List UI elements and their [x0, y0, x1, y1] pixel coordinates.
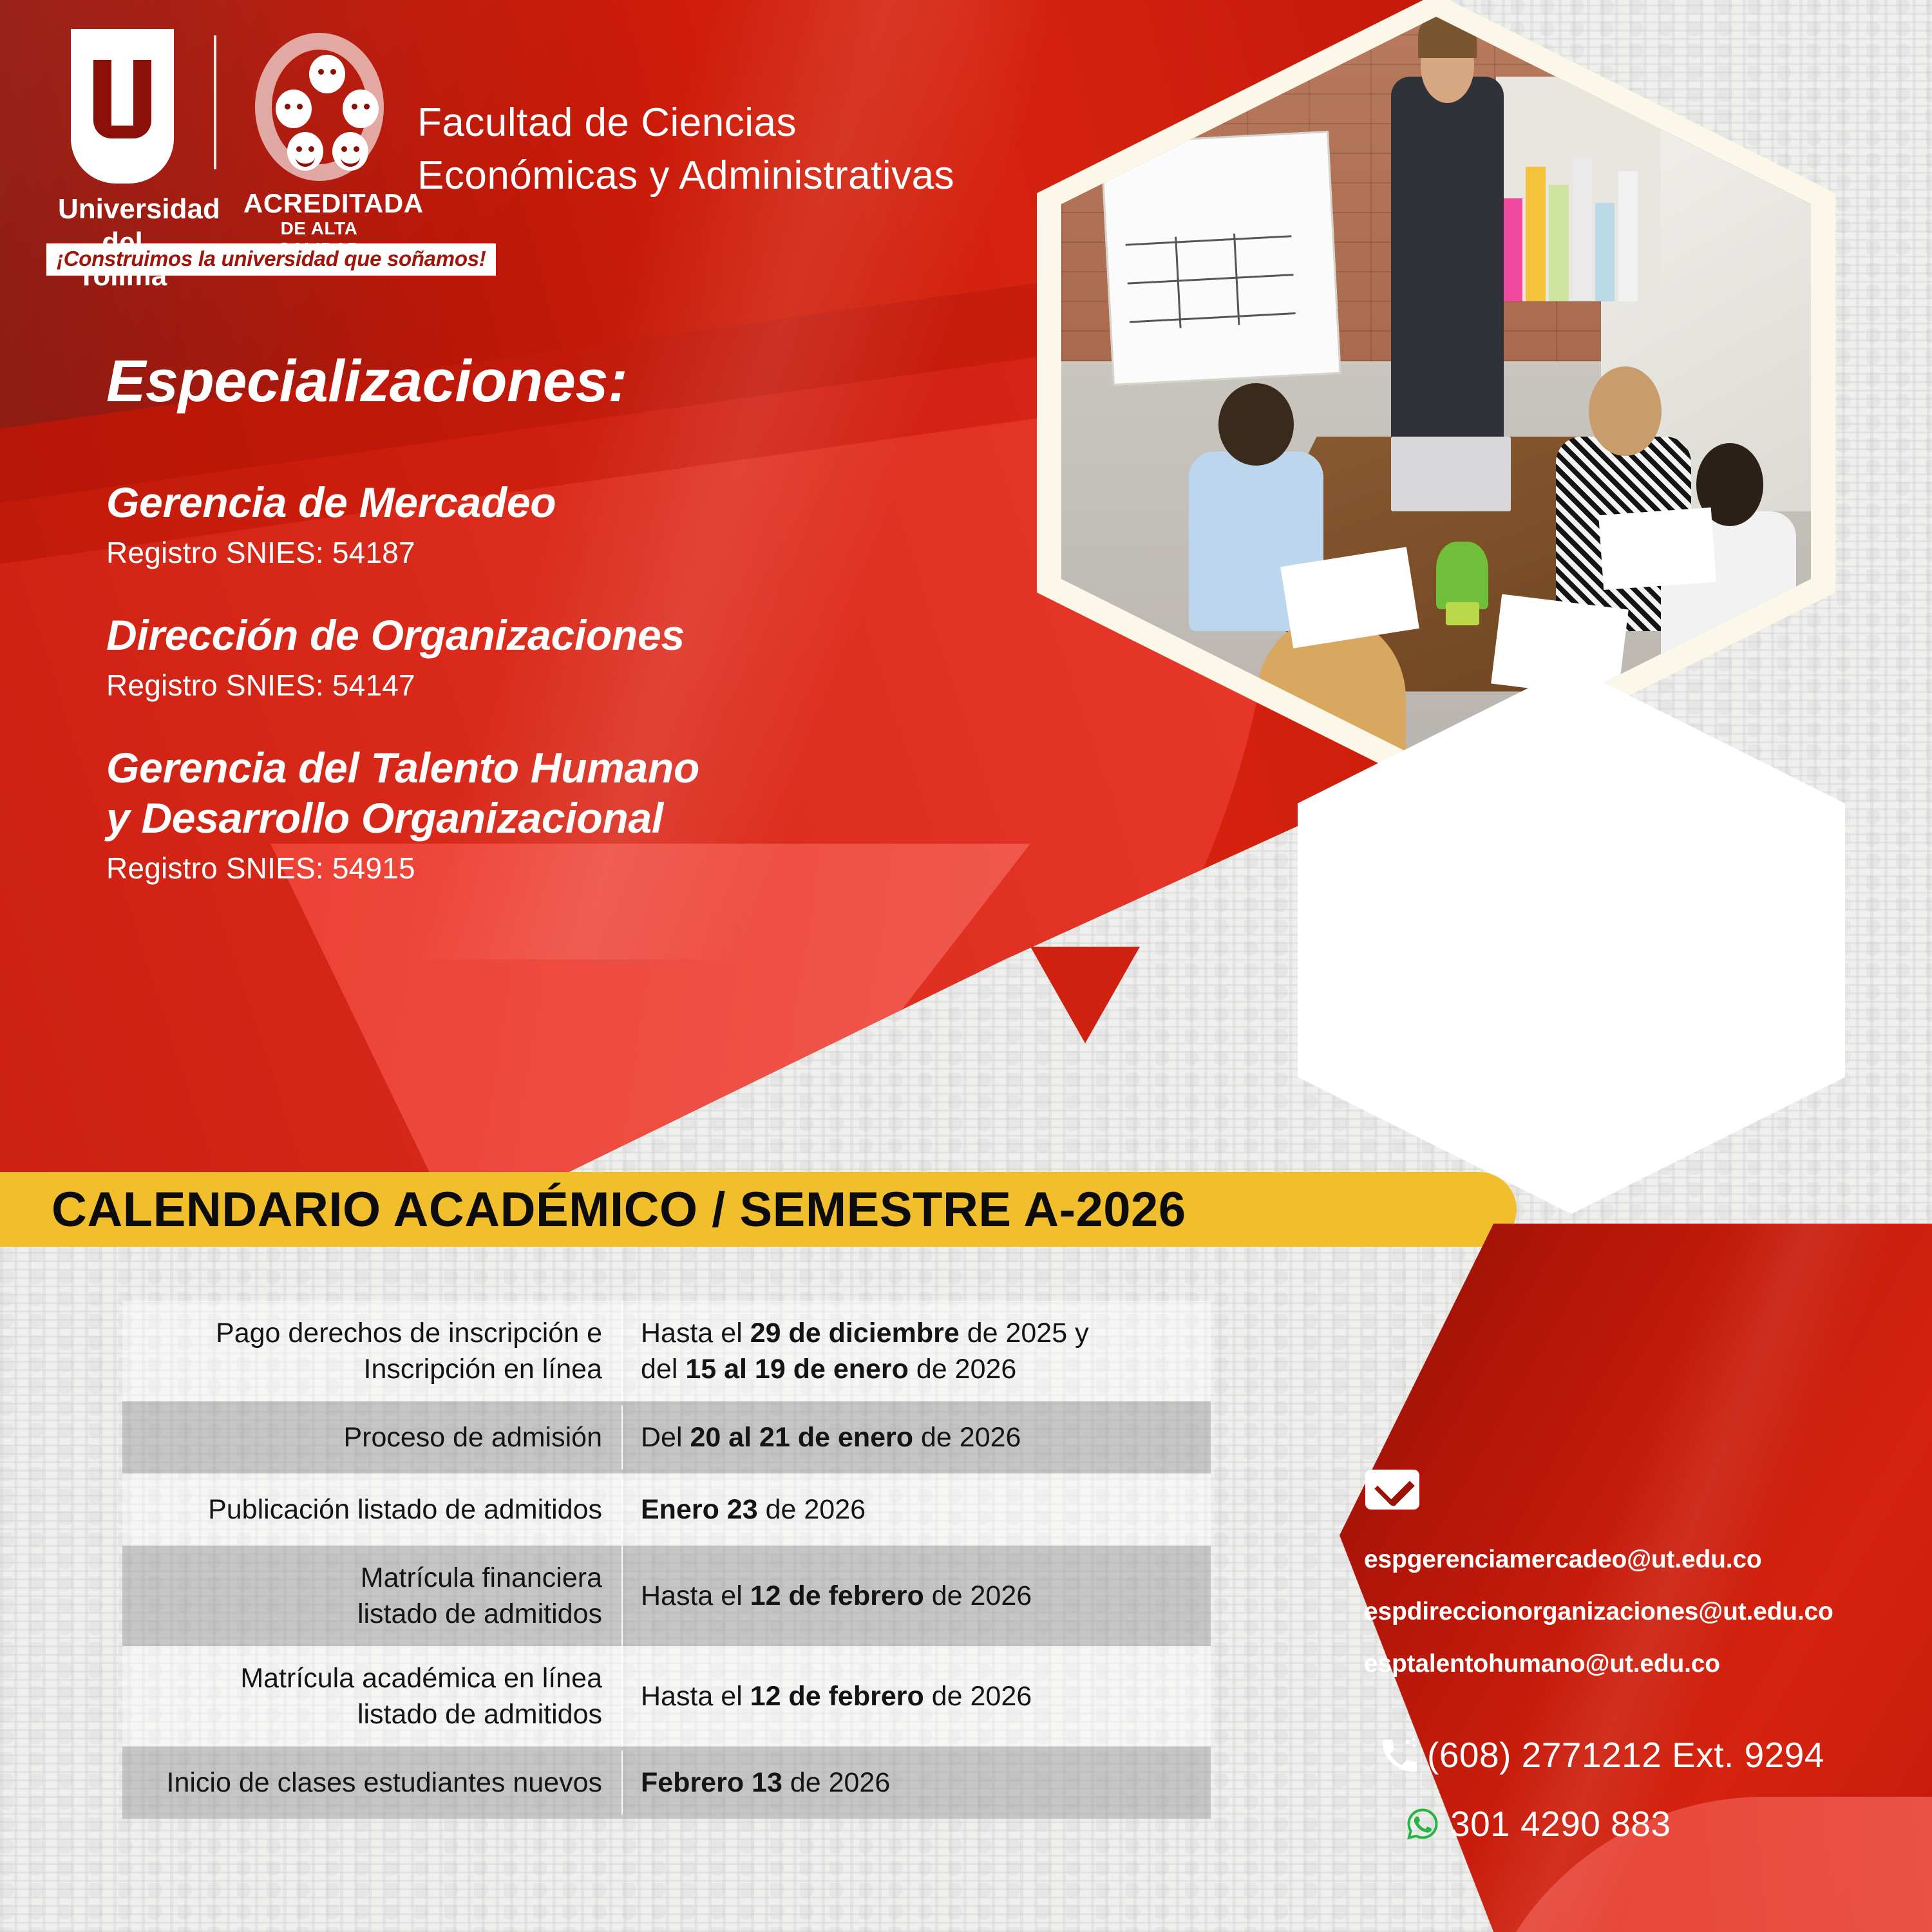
calendar-label-line: Matrícula académica en línea	[122, 1660, 602, 1696]
value-suffix: de 2026	[913, 1422, 1021, 1453]
value-suffix: de 2025 y	[960, 1318, 1089, 1349]
table-row: Matrícula académica en línea listado de …	[122, 1646, 1211, 1747]
email-list: espgerenciamercadeo@ut.edu.co espdirecci…	[1364, 1542, 1905, 1699]
calendar-value-line: Del 20 al 21 de enero de 2026	[641, 1419, 1211, 1455]
calendar-value-line: Hasta el 12 de febrero de 2026	[641, 1578, 1211, 1614]
programs-section: Especializaciones: Gerencia de Mercadeo …	[106, 348, 699, 925]
value-suffix: de 2026	[758, 1494, 866, 1525]
calendar-row-value: Hasta el 12 de febrero de 2026	[623, 1564, 1211, 1628]
calendar-label-line: Proceso de admisión	[122, 1419, 602, 1455]
program-name: Gerencia del Talento Humano y Desarrollo…	[106, 743, 699, 843]
logo-divider	[214, 35, 216, 169]
calendar-row-value: Del 20 al 21 de enero de 2026	[623, 1405, 1211, 1470]
whatsapp-row[interactable]: 301 4290 883	[1395, 1803, 1906, 1844]
faculty-title-line2: Económicas y Administrativas	[417, 149, 954, 202]
programs-heading: Especializaciones:	[106, 348, 699, 415]
value-prefix: Del	[641, 1422, 690, 1453]
program-item: Dirección de Organizaciones Registro SNI…	[106, 610, 699, 703]
university-tagline: ¡Construimos la universidad que soñamos!	[46, 243, 496, 276]
value-prefix: Hasta el	[641, 1580, 750, 1611]
table-row: Matrícula financiera listado de admitido…	[122, 1546, 1211, 1646]
value-prefix: Hasta el	[641, 1318, 750, 1349]
calendar-value-line: del 15 al 19 de enero de 2026	[641, 1351, 1211, 1387]
calendar-row-label: Matrícula financiera listado de admitido…	[122, 1546, 623, 1646]
email-address[interactable]: espdireccionorganizaciones@ut.edu.co	[1364, 1595, 1905, 1629]
value-prefix: del	[641, 1354, 685, 1385]
university-name: Universidad del Tolima	[58, 193, 187, 293]
value-emphasis: 20 al 21 de enero	[690, 1422, 913, 1453]
calendar-row-value: Febrero 13 de 2026	[623, 1750, 1211, 1815]
faculty-title: Facultad de Ciencias Económicas y Admini…	[417, 97, 954, 202]
academic-calendar-table: Pago derechos de inscripción e Inscripci…	[122, 1301, 1211, 1819]
calendar-banner: CALENDARIO ACADÉMICO / SEMESTRE A-2026	[0, 1172, 1517, 1247]
table-row: Inicio de clases estudiantes nuevos Febr…	[122, 1747, 1211, 1819]
value-emphasis: 12 de febrero	[750, 1580, 924, 1611]
calendar-label-line: Inscripción en línea	[122, 1351, 602, 1387]
value-suffix: de 2026	[782, 1767, 890, 1798]
phone-row[interactable]: (608) 2771212 Ext. 9294	[1372, 1732, 1906, 1777]
calendar-row-label: Pago derechos de inscripción e Inscripci…	[122, 1301, 623, 1401]
program-registry: Registro SNIES: 54915	[106, 851, 699, 885]
value-emphasis: Febrero 13	[641, 1767, 782, 1798]
value-suffix: de 2026	[924, 1681, 1032, 1712]
calendar-banner-label: CALENDARIO ACADÉMICO / SEMESTRE A-2026	[52, 1182, 1186, 1238]
program-registry: Registro SNIES: 54187	[106, 535, 699, 570]
email-address[interactable]: espgerenciamercadeo@ut.edu.co	[1364, 1542, 1905, 1577]
tagline-text: ¡Construimos la universidad que soñamos!	[57, 247, 486, 270]
value-suffix: de 2026	[924, 1580, 1032, 1611]
value-emphasis: 15 al 19 de enero	[685, 1354, 909, 1385]
phone-number: (608) 2771212 Ext. 9294	[1427, 1734, 1824, 1776]
phone-list: (608) 2771212 Ext. 9294 301 4290 883	[1372, 1732, 1906, 1870]
program-item: Gerencia del Talento Humano y Desarrollo…	[106, 743, 699, 885]
phone-icon	[1372, 1732, 1427, 1777]
calendar-row-value: Enero 23 de 2026	[623, 1477, 1211, 1542]
calendar-value-line: Enero 23 de 2026	[641, 1492, 1211, 1528]
program-name-line1: Gerencia del Talento Humano	[106, 743, 699, 793]
accreditation-logo: ACREDITADA DE ALTA CALIDAD	[243, 29, 395, 260]
accreditation-label-primary: ACREDITADA	[243, 189, 395, 218]
calendar-row-label: Publicación listado de admitidos	[122, 1477, 623, 1542]
calendar-row-label: Inicio de clases estudiantes nuevos	[122, 1750, 623, 1815]
calendar-row-value: Hasta el 29 de diciembre de 2025 y del 1…	[623, 1301, 1211, 1401]
table-row: Proceso de admisión Del 20 al 21 de ener…	[122, 1401, 1211, 1473]
calendar-label-line: Publicación listado de admitidos	[122, 1492, 602, 1528]
table-row: Pago derechos de inscripción e Inscripci…	[122, 1301, 1211, 1401]
value-emphasis: Enero 23	[641, 1494, 758, 1525]
calendar-label-line: listado de admitidos	[122, 1596, 602, 1632]
value-suffix: de 2026	[909, 1354, 1016, 1385]
calendar-value-line: Febrero 13 de 2026	[641, 1765, 1211, 1801]
program-name: Dirección de Organizaciones	[106, 610, 699, 660]
calendar-label-line: Matrícula financiera	[122, 1560, 602, 1596]
program-name-line2: y Desarrollo Organizacional	[106, 793, 699, 843]
calendar-label-line: Pago derechos de inscripción e	[122, 1315, 602, 1351]
table-row: Publicación listado de admitidos Enero 2…	[122, 1473, 1211, 1546]
whatsapp-number: 301 4290 883	[1450, 1803, 1671, 1844]
faculty-title-line1: Facultad de Ciencias	[417, 97, 954, 149]
university-name-line1: Universidad	[58, 193, 187, 226]
accreditation-ring-icon	[255, 33, 384, 181]
calendar-label-line: Inicio de clases estudiantes nuevos	[122, 1765, 602, 1801]
calendar-label-line: listado de admitidos	[122, 1696, 602, 1732]
program-name: Gerencia de Mercadeo	[106, 477, 699, 527]
email-address[interactable]: esptalentohumano@ut.edu.co	[1364, 1647, 1905, 1681]
calendar-row-value: Hasta el 12 de febrero de 2026	[623, 1664, 1211, 1728]
calendar-value-line: Hasta el 12 de febrero de 2026	[641, 1678, 1211, 1714]
program-registry: Registro SNIES: 54147	[106, 668, 699, 703]
envelope-icon	[1365, 1470, 1419, 1510]
value-emphasis: 12 de febrero	[750, 1681, 924, 1712]
red-accent-chevron	[1030, 947, 1140, 1043]
calendar-value-line: Hasta el 29 de diciembre de 2025 y	[641, 1315, 1211, 1351]
poster-root: Universidad del Tolima ACREDITADA DE ALT…	[0, 0, 1932, 1932]
calendar-row-label: Matrícula académica en línea listado de …	[122, 1646, 623, 1747]
calendar-row-label: Proceso de admisión	[122, 1405, 623, 1470]
ut-monogram-icon	[61, 29, 184, 184]
program-item: Gerencia de Mercadeo Registro SNIES: 541…	[106, 477, 699, 570]
value-emphasis: 29 de diciembre	[750, 1318, 960, 1349]
value-prefix: Hasta el	[641, 1681, 750, 1712]
whatsapp-icon	[1395, 1806, 1450, 1842]
